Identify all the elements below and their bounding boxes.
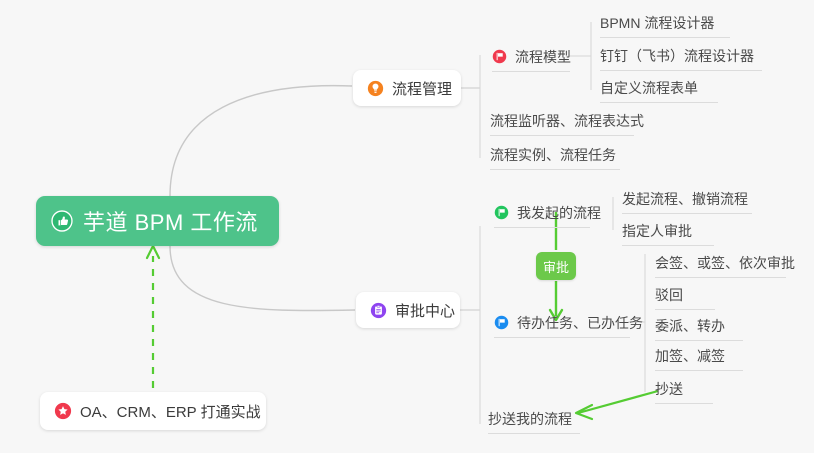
link-root-to-shenpi-zhongxin (170, 246, 355, 311)
node-liucheng-guanli[interactable]: 流程管理 (353, 70, 461, 106)
node-instance-task[interactable]: 流程实例、流程任务 (490, 140, 620, 170)
flag-icon (494, 205, 509, 220)
node-bohui-label: 驳回 (655, 285, 683, 305)
root-node[interactable]: 芋道 BPM 工作流 (36, 196, 279, 246)
node-dingding-feishu-designer[interactable]: 钉钉（飞书）流程设计器 (600, 41, 762, 71)
node-oa-crm-erp-label: OA、CRM、ERP 打通实战 (80, 401, 261, 422)
node-instance-task-label: 流程实例、流程任务 (490, 145, 616, 165)
node-bpmn-designer-label: BPMN 流程设计器 (600, 13, 714, 33)
tag-shenpi[interactable]: 审批 (536, 252, 576, 280)
node-chaosong-wode-liucheng[interactable]: 抄送我的流程 (488, 404, 580, 434)
node-oa-crm-erp[interactable]: OA、CRM、ERP 打通实战 (40, 392, 266, 430)
star-icon (54, 402, 72, 420)
arrowhead-oa-crm-erp (147, 246, 159, 258)
flag-icon (494, 315, 509, 330)
node-huiqian-huoqian-yici-label: 会签、或签、依次审批 (655, 253, 795, 273)
node-zhiding-ren-shenpi-label: 指定人审批 (622, 221, 692, 241)
node-shenpi-zhongxin-label: 审批中心 (395, 300, 455, 321)
node-listener-expression-label: 流程监听器、流程表达式 (490, 111, 644, 131)
node-liucheng-guanli-label: 流程管理 (392, 78, 452, 99)
node-shenpi-zhongxin[interactable]: 审批中心 (356, 292, 460, 328)
root-label: 芋道 BPM 工作流 (83, 205, 258, 237)
node-faqi-chexiao[interactable]: 发起流程、撤销流程 (622, 184, 752, 214)
lightbulb-icon (367, 80, 384, 97)
tag-shenpi-label: 审批 (543, 257, 569, 276)
mindmap-canvas: 芋道 BPM 工作流 流程管理 流程模型 BPMN 流程设计器 钉 (0, 0, 814, 453)
node-huiqian-huoqian-yici[interactable]: 会签、或签、依次审批 (655, 248, 786, 278)
flag-icon (492, 49, 507, 64)
node-chaosong-wode-liucheng-label: 抄送我的流程 (488, 409, 572, 429)
clipboard-icon (370, 302, 387, 319)
node-dingding-feishu-designer-label: 钉钉（飞书）流程设计器 (600, 46, 754, 66)
node-liucheng-moxing[interactable]: 流程模型 (492, 42, 570, 72)
node-chaosong-label: 抄送 (655, 379, 683, 399)
node-wo-faqi-de-liucheng[interactable]: 我发起的流程 (494, 198, 590, 228)
node-wo-faqi-de-liucheng-label: 我发起的流程 (517, 203, 601, 223)
node-listener-expression[interactable]: 流程监听器、流程表达式 (490, 106, 634, 136)
arrow-chaosong (578, 391, 658, 413)
node-jiaqian-jianqian[interactable]: 加签、减签 (655, 341, 743, 371)
node-custom-process-form[interactable]: 自定义流程表单 (600, 73, 718, 103)
node-bohui[interactable]: 驳回 (655, 280, 715, 310)
node-jiaqian-jianqian-label: 加签、减签 (655, 346, 725, 366)
thumbs-up-icon (50, 209, 74, 233)
node-weipai-zhuanban-label: 委派、转办 (655, 316, 725, 336)
node-weipai-zhuanban[interactable]: 委派、转办 (655, 311, 743, 341)
node-faqi-chexiao-label: 发起流程、撤销流程 (622, 189, 748, 209)
node-chaosong[interactable]: 抄送 (655, 374, 713, 404)
node-liucheng-moxing-label: 流程模型 (515, 47, 571, 67)
link-root-to-liucheng-guanli (170, 86, 352, 196)
node-daiban-yiban-renwu-label: 待办任务、已办任务 (517, 313, 643, 333)
node-zhiding-ren-shenpi[interactable]: 指定人审批 (622, 216, 714, 246)
node-bpmn-designer[interactable]: BPMN 流程设计器 (600, 8, 730, 38)
node-custom-process-form-label: 自定义流程表单 (600, 78, 698, 98)
node-daiban-yiban-renwu[interactable]: 待办任务、已办任务 (494, 308, 630, 338)
